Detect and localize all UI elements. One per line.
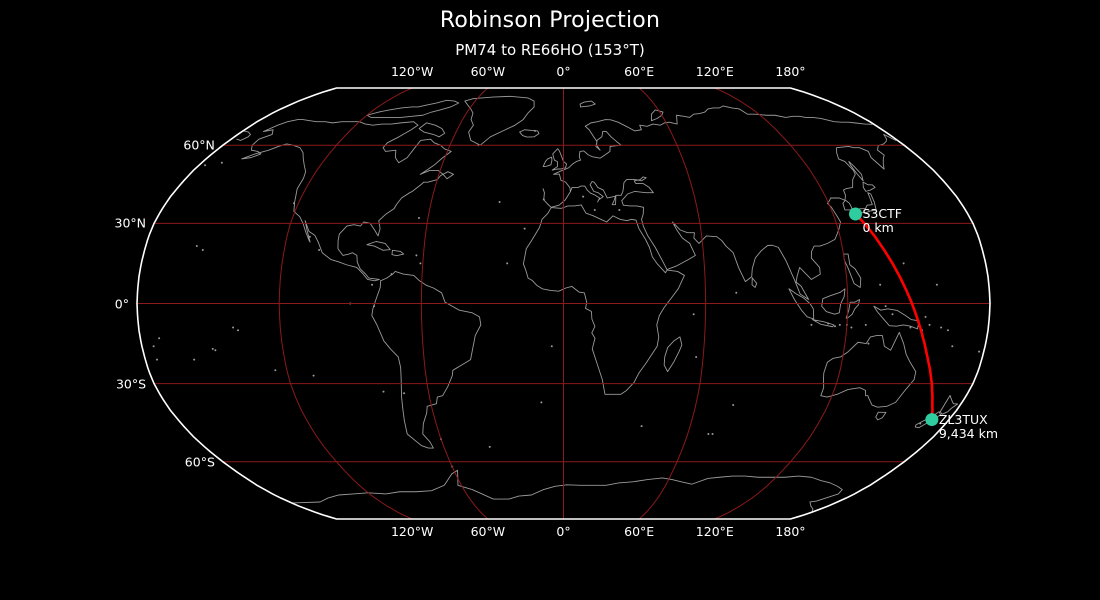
marker-s3ctf[interactable] [849, 207, 862, 220]
lon-tick-bottom-2: 120°E [696, 524, 734, 539]
marker-zl3tux[interactable] [925, 413, 938, 426]
lon-tick-top-4: 120°W [391, 64, 433, 79]
coastlines-layer [153, 96, 980, 512]
lon-tick-bottom-3: 180° [775, 524, 805, 539]
lon-tick-top-1: 60°E [624, 64, 654, 79]
lat-tick-0: 60°N [0, 138, 215, 153]
lat-tick-1: 30°N [0, 216, 146, 231]
graticule-layer [137, 88, 990, 519]
lat-tick-3: 30°S [0, 376, 146, 391]
lat-tick-4: 60°S [0, 454, 215, 469]
map-canvas: Robinson Projection PM74 to RE66HO (153°… [0, 0, 1100, 600]
lon-tick-top-5: 60°W [471, 64, 506, 79]
lon-tick-bottom-5: 60°W [471, 524, 506, 539]
robinson-map [0, 0, 1100, 600]
lon-tick-bottom-0: 0° [556, 524, 570, 539]
lon-tick-bottom-4: 120°W [391, 524, 433, 539]
lon-tick-top-0: 0° [556, 64, 570, 79]
lat-tick-2: 0° [0, 296, 129, 311]
lon-tick-bottom-1: 60°E [624, 524, 654, 539]
lon-tick-top-2: 120°E [696, 64, 734, 79]
lon-tick-top-3: 180° [775, 64, 805, 79]
great-circle-path [855, 214, 932, 420]
